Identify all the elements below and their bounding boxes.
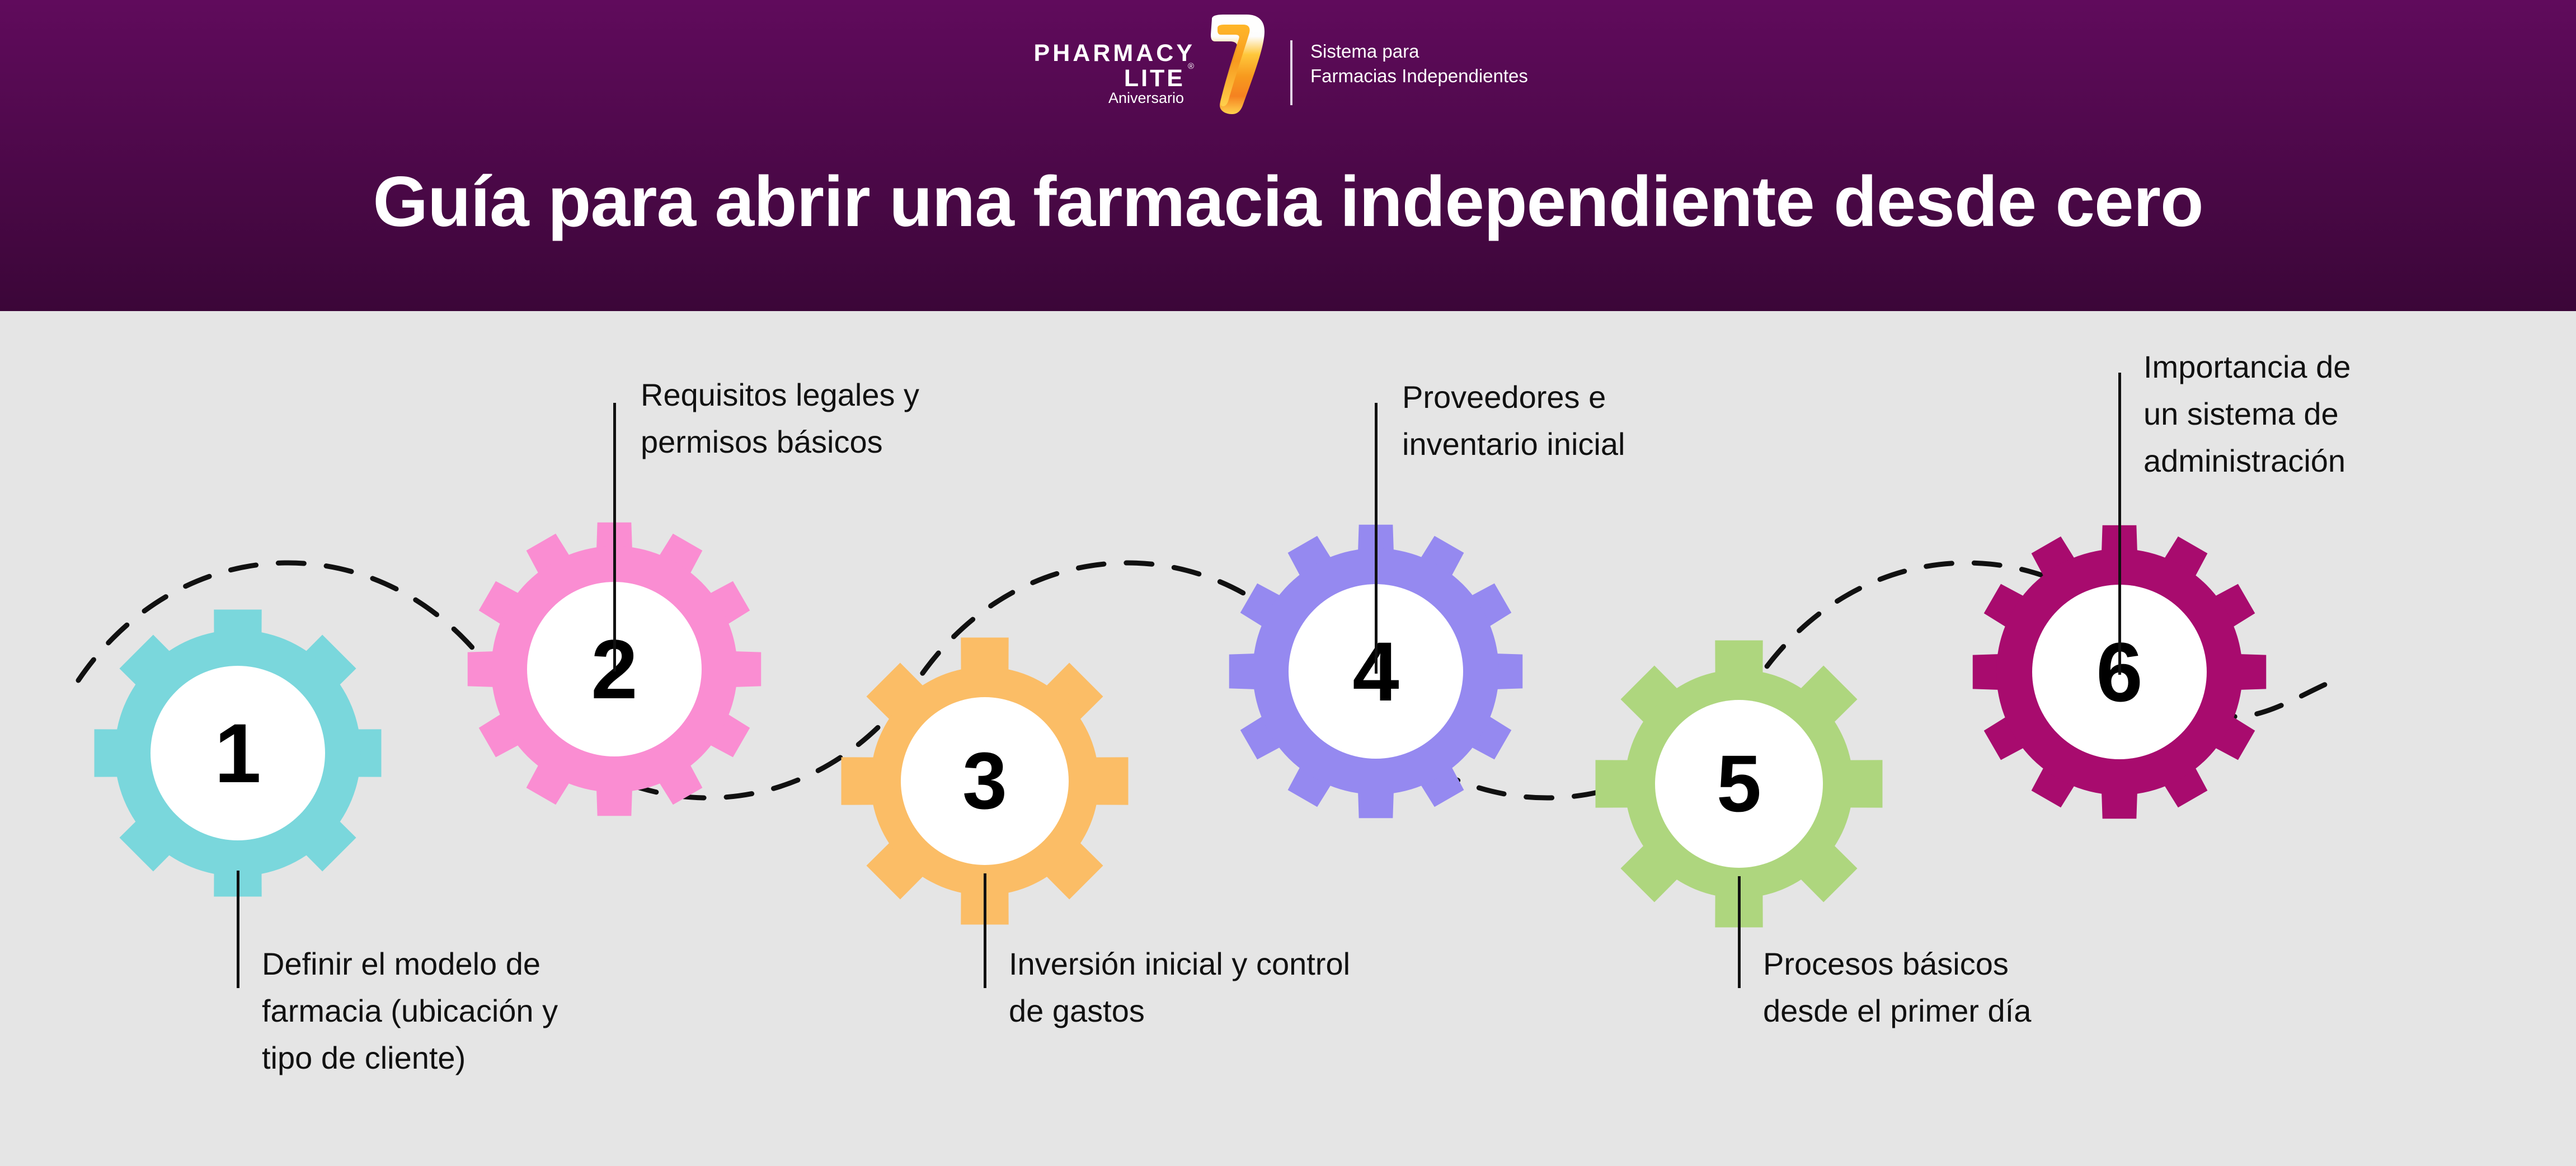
step-3-number: 3: [906, 741, 1063, 821]
brand-name-lite: LITE: [1010, 66, 1195, 91]
step-4-label-line-2: inventario inicial: [1402, 421, 1625, 468]
brand-wordmark: PHARMACY LITE ®: [1010, 40, 1195, 91]
step-6-connector: [2118, 373, 2121, 675]
brand-logo: PHARMACY LITE ® Aniversario: [1010, 35, 1570, 119]
step-5-label-line-2: desde el primer día: [1763, 988, 2031, 1035]
step-1-number: 1: [159, 711, 316, 795]
header-banner: PHARMACY LITE ® Aniversario: [0, 0, 2576, 311]
step-1-label-line-3: tipo de cliente): [262, 1035, 558, 1082]
page-title: Guía para abrir una farmacia independien…: [0, 162, 2576, 241]
anniversary-label: Aniversario: [1010, 90, 1195, 106]
registered-trademark-icon: ®: [1188, 62, 1194, 70]
step-6-label: Importancia de un sistema de administrac…: [2143, 344, 2351, 485]
tagline-line-2: Farmacias Independientes: [1310, 64, 1528, 88]
step-3-label-line-2: de gastos: [1009, 988, 1350, 1035]
step-1-label: Definir el modelo de farmacia (ubicación…: [262, 941, 558, 1082]
step-4-label-line-1: Proveedores e: [1402, 374, 1625, 421]
step-1-label-line-2: farmacia (ubicación y: [262, 988, 558, 1035]
step-2-label-line-1: Requisitos legales y: [641, 372, 919, 419]
step-4-connector: [1375, 403, 1378, 674]
brand-name-pharmacy: PHARMACY: [1010, 40, 1195, 66]
step-3-label: Inversión inicial y control de gastos: [1009, 941, 1350, 1035]
brand-tagline: Sistema para Farmacias Independientes: [1310, 39, 1528, 88]
step-6-label-line-3: administración: [2143, 438, 2351, 485]
step-3-label-line-1: Inversión inicial y control: [1009, 941, 1350, 988]
step-2-label: Requisitos legales y permisos básicos: [641, 372, 919, 466]
step-5-label-line-1: Procesos básicos: [1763, 941, 2031, 988]
step-2-label-line-2: permisos básicos: [641, 419, 919, 466]
logo-divider: [1290, 40, 1292, 105]
step-6-label-line-1: Importancia de: [2143, 344, 2351, 391]
tagline-line-1: Sistema para: [1310, 39, 1528, 64]
seven-numeral-icon: [1195, 15, 1268, 115]
infographic-page: PHARMACY LITE ® Aniversario: [0, 0, 2576, 1166]
step-1-label-line-1: Definir el modelo de: [262, 941, 558, 988]
step-4-label: Proveedores e inventario inicial: [1402, 374, 1625, 468]
step-5-number: 5: [1661, 744, 1817, 824]
step-1-connector: [237, 871, 239, 988]
step-6-label-line-2: un sistema de: [2143, 391, 2351, 438]
step-5-label: Procesos básicos desde el primer día: [1763, 941, 2031, 1035]
step-5-connector: [1738, 876, 1741, 988]
step-3-connector: [984, 873, 986, 988]
steps-diagram: 1 Definir el modelo de farmacia (ubicaci…: [0, 311, 2576, 1166]
step-2-connector: [613, 403, 616, 671]
